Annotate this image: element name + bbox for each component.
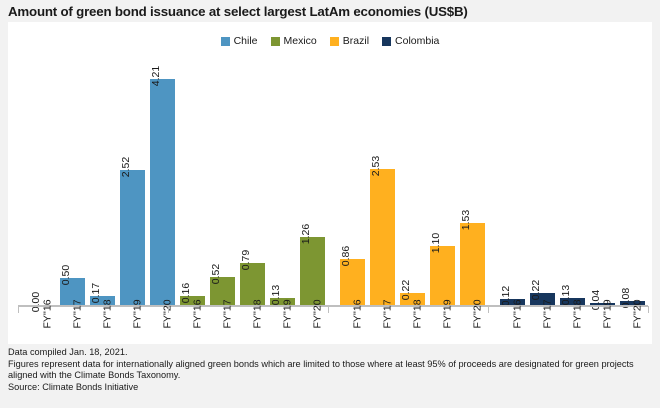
- axis-group-tick: [18, 306, 19, 313]
- x-tick-text: FY''16: [43, 299, 54, 328]
- bar-value-text: 4.21: [152, 66, 163, 86]
- x-tick-text: FY''18: [573, 299, 584, 328]
- x-tick-text: FY''19: [603, 299, 614, 328]
- legend-label: Mexico: [284, 36, 317, 47]
- bar-chile-4[interactable]: [150, 79, 175, 305]
- legend-label: Chile: [234, 36, 258, 47]
- x-tick-text: FY''18: [103, 299, 114, 328]
- x-tick-text: FY''20: [633, 299, 644, 328]
- footnote-methodology: Figures represent data for international…: [8, 359, 656, 382]
- footnote-compiled-date: Data compiled Jan. 18, 2021.: [8, 347, 656, 359]
- footnote-source: Source: Climate Bonds Initiative: [8, 382, 656, 394]
- bar-value-text: 0.50: [62, 265, 73, 285]
- x-tick-text: FY''17: [543, 299, 554, 328]
- legend-swatch-icon: [271, 37, 280, 46]
- x-tick-text: FY''17: [73, 299, 84, 328]
- x-tick-text: FY''18: [413, 299, 424, 328]
- legend-swatch-icon: [330, 37, 339, 46]
- bar-value-text: 0.22: [532, 280, 543, 300]
- legend-swatch-icon: [382, 37, 391, 46]
- bar-brazil-3[interactable]: [430, 246, 455, 305]
- chart-legend: ChileMexicoBrazilColombia: [8, 34, 652, 48]
- axis-group-tick: [648, 306, 649, 313]
- x-tick-text: FY''20: [473, 299, 484, 328]
- x-tick-text: FY''19: [283, 299, 294, 328]
- bar-value-text: 2.52: [122, 157, 133, 177]
- bar-mexico-4[interactable]: [300, 237, 325, 305]
- bar-value-text: 2.53: [372, 156, 383, 176]
- axis-group-tick: [328, 306, 329, 313]
- bar-value-text: 1.10: [432, 233, 443, 253]
- bar-brazil-1[interactable]: [370, 169, 395, 305]
- bar-value-text: 0.52: [212, 264, 223, 284]
- x-tick-text: FY''20: [313, 299, 324, 328]
- legend-label: Colombia: [395, 36, 439, 47]
- bar-value-text: 0.79: [242, 249, 253, 269]
- page-title: Amount of green bond issuance at select …: [8, 3, 652, 21]
- x-tick-text: FY''16: [513, 299, 524, 328]
- x-tick-text: FY''18: [253, 299, 264, 328]
- legend-item-colombia[interactable]: Colombia: [382, 36, 439, 47]
- axis-group-tick: [488, 306, 489, 313]
- x-tick-text: FY''16: [193, 299, 204, 328]
- bar-chile-3[interactable]: [120, 170, 145, 305]
- x-tick-text: FY''20: [163, 299, 174, 328]
- x-tick-text: FY''17: [223, 299, 234, 328]
- legend-label: Brazil: [343, 36, 369, 47]
- bar-value-text: 0.86: [342, 246, 353, 266]
- x-tick-text: FY''17: [383, 299, 394, 328]
- legend-item-mexico[interactable]: Mexico: [271, 36, 317, 47]
- plot-area: ChileMexicoBrazilColombia 0.000.500.172.…: [8, 22, 652, 344]
- x-tick-text: FY''19: [443, 299, 454, 328]
- chart-footnotes: Data compiled Jan. 18, 2021. Figures rep…: [8, 347, 656, 393]
- x-tick-text: FY''16: [353, 299, 364, 328]
- bar-value-text: 0.22: [402, 280, 413, 300]
- axis-group-tick: [168, 306, 169, 313]
- chart-card: Amount of green bond issuance at select …: [0, 0, 660, 408]
- bar-value-text: 1.26: [302, 224, 313, 244]
- legend-swatch-icon: [221, 37, 230, 46]
- legend-item-brazil[interactable]: Brazil: [330, 36, 369, 47]
- bar-value-text: 1.53: [462, 210, 473, 230]
- legend-item-chile[interactable]: Chile: [221, 36, 258, 47]
- bar-brazil-4[interactable]: [460, 223, 485, 305]
- x-tick-text: FY''19: [133, 299, 144, 328]
